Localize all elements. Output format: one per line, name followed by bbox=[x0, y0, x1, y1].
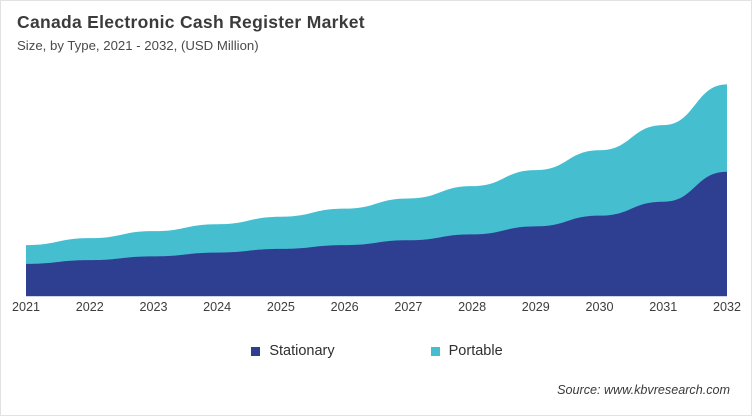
x-axis-tick-labels: 2021202220232024202520262027202820292030… bbox=[26, 300, 727, 320]
x-axis-tick-2030: 2030 bbox=[586, 300, 614, 314]
x-axis-tick-2025: 2025 bbox=[267, 300, 295, 314]
x-axis-tick-2022: 2022 bbox=[76, 300, 104, 314]
x-axis-tick-2032: 2032 bbox=[713, 300, 741, 314]
x-axis-tick-2029: 2029 bbox=[522, 300, 550, 314]
square-marker-icon bbox=[251, 347, 260, 356]
square-marker-icon bbox=[431, 347, 440, 356]
legend-label: Portable bbox=[449, 343, 503, 359]
x-axis-tick-2026: 2026 bbox=[331, 300, 359, 314]
source-attribution: Source: www.kbvresearch.com bbox=[557, 383, 730, 397]
x-axis-tick-2021: 2021 bbox=[12, 300, 40, 314]
x-axis-tick-2028: 2028 bbox=[458, 300, 486, 314]
x-axis-tick-2031: 2031 bbox=[649, 300, 677, 314]
x-axis-tick-2024: 2024 bbox=[203, 300, 231, 314]
chart-container: Canada Electronic Cash Register Market S… bbox=[0, 0, 752, 416]
x-axis-tick-2023: 2023 bbox=[139, 300, 167, 314]
x-axis-tick-2027: 2027 bbox=[394, 300, 422, 314]
legend-item-portable[interactable]: Portable bbox=[431, 343, 503, 359]
chart-legend: StationaryPortable bbox=[1, 343, 752, 359]
legend-item-stationary[interactable]: Stationary bbox=[251, 343, 334, 359]
legend-label: Stationary bbox=[269, 343, 334, 359]
